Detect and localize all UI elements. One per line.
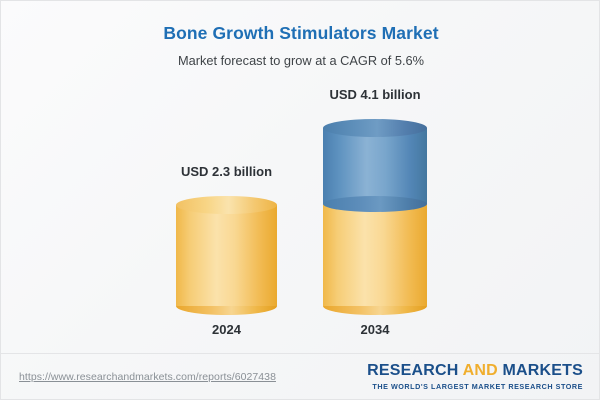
bar-2034: USD 4.1 billion 2034	[323, 119, 427, 306]
axis-label-2034: 2034	[361, 322, 390, 337]
brand-tagline: THE WORLD'S LARGEST MARKET RESEARCH STOR…	[367, 383, 583, 390]
brand-name: RESEARCH AND MARKETS	[367, 363, 583, 379]
report-url-link[interactable]: https://www.researchandmarkets.com/repor…	[19, 371, 276, 383]
bar-label-2024: USD 2.3 billion	[181, 164, 272, 179]
chart-footer: https://www.researchandmarkets.com/repor…	[1, 354, 600, 400]
axis-label-2024: 2024	[212, 322, 241, 337]
cylinder-body-base	[323, 204, 427, 306]
cylinder-body-growth	[323, 128, 427, 204]
cylinder-2034	[323, 119, 427, 306]
brand-name-part1: RESEARCH	[367, 362, 462, 379]
chart-plot-area: USD 2.3 billion 2024 USD 4.1 billion 203…	[1, 1, 600, 353]
brand-logo: RESEARCH AND MARKETS THE WORLD'S LARGEST…	[367, 363, 583, 390]
bar-label-2034: USD 4.1 billion	[329, 87, 420, 102]
cylinder-body-base	[176, 205, 277, 306]
cylinder-top-cap	[323, 119, 427, 137]
market-forecast-chart-card: Bone Growth Stimulators Market Market fo…	[0, 0, 600, 400]
cylinder-segment-seam	[323, 196, 427, 212]
cylinder-top-cap	[176, 196, 277, 214]
brand-name-part2: MARKETS	[498, 362, 583, 379]
brand-name-and: AND	[463, 362, 498, 379]
bar-2024: USD 2.3 billion 2024	[176, 196, 277, 306]
cylinder-2024	[176, 196, 277, 306]
